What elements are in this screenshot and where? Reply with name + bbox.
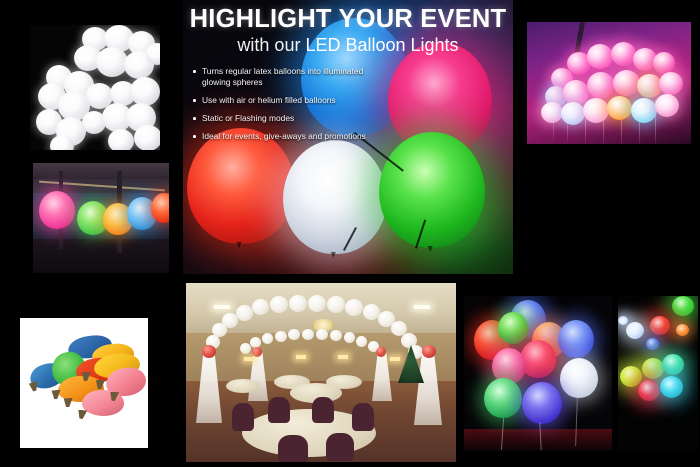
ceiling-light (414, 305, 430, 309)
photo-balcony-balloon-string: Coloured LED balloons strung along a bal… (33, 163, 169, 273)
wall-sconce (296, 355, 306, 359)
balloon-shape (151, 193, 169, 223)
arch-balloon (302, 329, 314, 340)
balloon-shape (558, 320, 594, 358)
balloon-shape (611, 42, 636, 66)
red-accent-balloon (422, 345, 436, 358)
balloon-string (39, 181, 165, 191)
photo-orbs-caption: Scattered glowing LED balloon orbs in th… (618, 296, 619, 297)
balloon-shape (50, 135, 74, 150)
photo-product-caption: Deflated coloured balloons with LED ligh… (20, 318, 21, 319)
balloon-shape (39, 191, 75, 229)
photo-white-balloon-cluster: Cluster of white LED-lit balloons on bla… (30, 25, 160, 150)
chair (326, 433, 354, 461)
arch-balloon (327, 296, 345, 313)
arch-balloon (270, 296, 288, 313)
stage-glow (464, 429, 612, 451)
hero-feature-list: Turns regular latex balloons into illumi… (191, 66, 371, 149)
arch-balloon (275, 331, 287, 342)
balloon-shape (631, 98, 657, 123)
arch-balloon (316, 329, 328, 340)
photo-product-deflated-balloons: Deflated coloured balloons with LED ligh… (20, 318, 148, 448)
arch-balloon (330, 330, 342, 341)
balloon-shape (498, 312, 528, 344)
wall-sconce (244, 357, 254, 361)
balloon-shape (134, 125, 160, 150)
hero-subtitle-lead: with our (237, 35, 305, 55)
balloon-shape (583, 98, 609, 123)
chair (232, 403, 254, 431)
arch-balloon (236, 305, 253, 321)
wall-sconce (390, 357, 400, 361)
chair (352, 403, 374, 431)
photo-glowing-orbs: Scattered glowing LED balloon orbs in th… (618, 296, 698, 451)
arch-balloon (240, 343, 251, 354)
hero-banner: HIGHLIGHT YOUR EVENT with our LED Balloo… (183, 0, 513, 274)
arch-balloon (252, 299, 269, 315)
balloon-shape (587, 72, 615, 99)
balloon-shape (653, 52, 675, 74)
photo-ceiling-caption: Pink and magenta LED balloon ceiling clu… (527, 22, 528, 23)
photo-bouquet-caption: Bouquet of multicoloured glowing LED bal… (464, 296, 465, 297)
led-clip (64, 398, 74, 408)
chair (278, 435, 308, 462)
balloon-shape (108, 129, 134, 150)
balloon-shape (587, 44, 613, 69)
arch-balloon (308, 295, 326, 312)
led-balloon-poster: Cluster of white LED-lit balloons on bla… (0, 0, 700, 467)
balloon-shape (520, 340, 556, 378)
chair (312, 397, 334, 423)
arch-balloon (262, 333, 273, 344)
balloon-shape (613, 70, 640, 96)
arch-balloon (289, 295, 307, 312)
balloon-shape (607, 96, 632, 120)
balloon-shape (541, 102, 563, 123)
glow-orb (626, 322, 644, 339)
balloon-shape (484, 378, 522, 418)
feature-bullet: Static or Flashing modes (191, 113, 371, 124)
feature-bullet: Use with air or helium filled balloons (191, 95, 371, 106)
glow-orb (662, 354, 684, 375)
hero-heading-group: HIGHLIGHT YOUR EVENT with our LED Balloo… (183, 6, 513, 55)
glow-orb (642, 358, 664, 379)
hero-white-balloon (283, 140, 387, 254)
background-table (226, 379, 260, 393)
glow-orb (676, 324, 689, 336)
hero-subtitle-highlight: LED Balloon Lights (305, 35, 458, 55)
glow-orb (638, 380, 660, 401)
ceiling-light (214, 305, 230, 309)
balcony-ceiling (33, 163, 169, 179)
balloon-shape (560, 358, 598, 398)
hero-subtitle: with our LED Balloon Lights (183, 35, 513, 56)
red-accent-balloon (202, 345, 216, 358)
glow-orb (672, 296, 694, 316)
balloon-shape (522, 382, 562, 424)
glow-orb (618, 316, 628, 325)
red-accent-balloon (376, 347, 386, 357)
glow-orb (660, 376, 683, 398)
glow-orb (650, 316, 670, 335)
balloon-shape (563, 80, 589, 105)
arch-balloon (288, 329, 300, 340)
photo-pink-ceiling-cluster: Pink and magenta LED balloon ceiling clu… (527, 22, 691, 144)
hero-green-balloon (379, 132, 485, 248)
hero-title: HIGHLIGHT YOUR EVENT (183, 6, 513, 33)
feature-bullet: Turns regular latex balloons into illumi… (191, 66, 371, 88)
chair (268, 397, 290, 423)
glow-orb (620, 366, 642, 387)
balloon-shape (561, 102, 585, 125)
wall-sconce (338, 355, 348, 359)
led-clip (78, 410, 88, 420)
arch-balloon (344, 332, 355, 343)
balloon-shape (637, 74, 662, 98)
balcony-floor (33, 239, 169, 273)
photo-multicolour-bouquet: Bouquet of multicoloured glowing LED bal… (464, 296, 612, 451)
arch-balloon (356, 336, 367, 347)
balloon-shape (655, 94, 679, 117)
red-accent-balloon (252, 347, 262, 357)
arch-balloon (345, 299, 363, 316)
feature-bullet: Ideal for events, give-aways and promoti… (191, 131, 371, 142)
photo-white-caption: Cluster of white LED-lit balloons on bla… (30, 25, 31, 26)
balloon-shape (130, 77, 160, 106)
glow-orb (646, 338, 659, 350)
photo-banquet-hall-arches: Banquet hall with white balloon arches a… (186, 283, 456, 462)
balloon-shape (659, 72, 683, 95)
